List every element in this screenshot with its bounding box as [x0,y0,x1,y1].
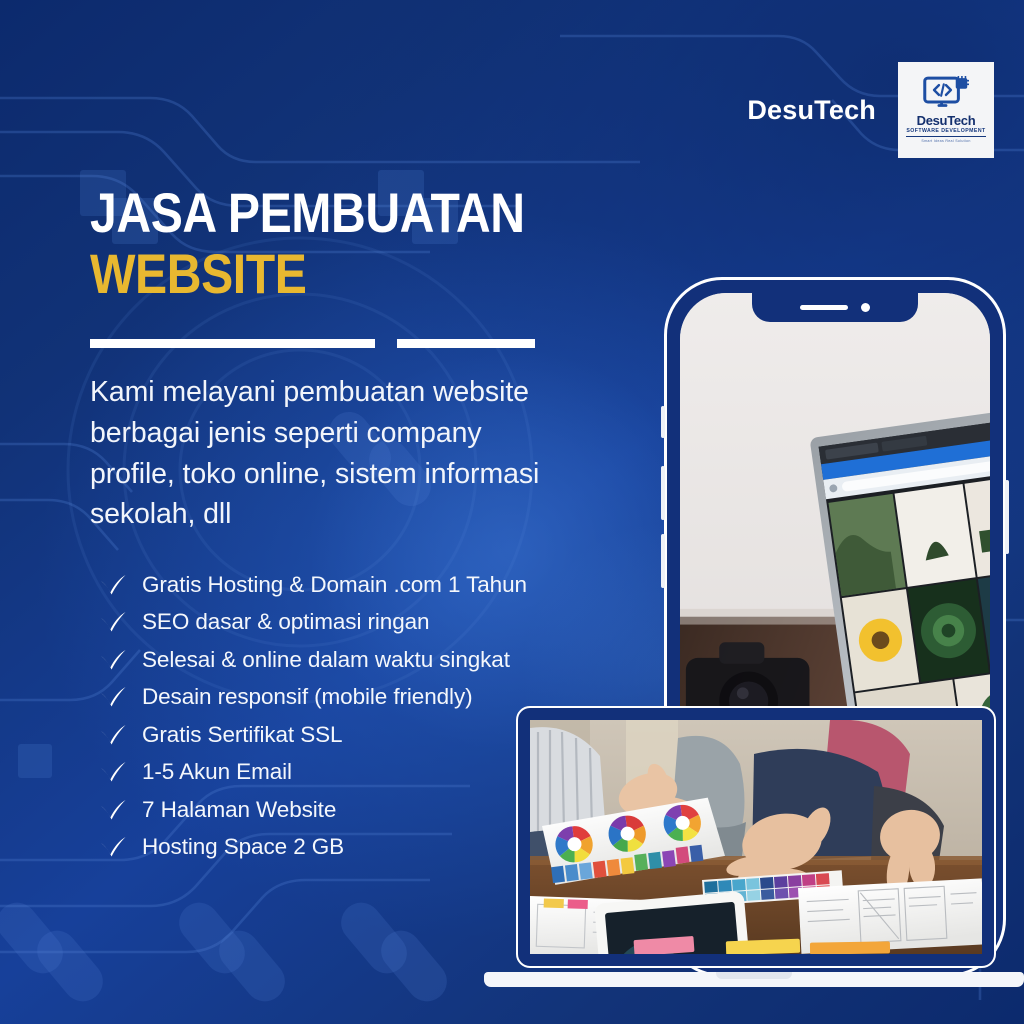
check-icon [98,684,128,710]
headline-line-2: WEBSITE [90,247,572,302]
headline-block: JASA PEMBUATAN WEBSITE [90,186,650,302]
check-icon [98,759,128,785]
check-icon [98,647,128,673]
intro-paragraph: Kami melayani pembuatan website berbagai… [90,372,560,535]
feature-label: Desain responsif (mobile friendly) [142,686,473,709]
earpiece-speaker-icon [800,305,848,310]
feature-label: Gratis Hosting & Domain .com 1 Tahun [142,574,527,597]
front-camera-icon [861,303,870,312]
check-icon [98,609,128,635]
laptop-lid [516,706,996,968]
laptop-mockup [470,706,1024,987]
company-logo: DesuTech SOFTWARE DEVELOPMENT Smart Idea… [898,62,994,158]
divider-segment-short [397,339,535,348]
brand-wordmark: DesuTech [747,95,876,126]
phone-volume-up-button [661,466,665,520]
check-icon [98,572,128,598]
feature-label: 1-5 Akun Email [142,761,292,784]
feature-label: SEO dasar & optimasi ringan [142,611,429,634]
logo-subtitle-text: SOFTWARE DEVELOPMENT [906,129,985,137]
logo-name-text: DesuTech [917,114,976,127]
list-item: Selesai & online dalam waktu singkat [98,641,618,679]
feature-label: Gratis Sertifikat SSL [142,724,342,747]
headline-divider [90,339,535,348]
phone-power-button [1005,480,1009,554]
phone-silent-switch [661,406,665,438]
laptop-screen-photo [530,720,982,954]
list-item: SEO dasar & optimasi ringan [98,604,618,642]
check-icon [98,834,128,860]
phone-volume-down-button [661,534,665,588]
feature-label: 7 Halaman Website [142,799,336,822]
headline-line-1: JASA PEMBUATAN [90,186,572,241]
laptop-base [484,972,1024,987]
check-icon [98,722,128,748]
feature-label: Hosting Space 2 GB [142,836,344,859]
phone-notch [752,293,918,322]
code-monitor-icon [923,76,969,112]
list-item: Gratis Hosting & Domain .com 1 Tahun [98,566,618,604]
laptop-base-notch [716,972,792,979]
poster-canvas: DesuTech DesuTech SOFTWARE DEVEL [0,0,1024,1024]
feature-label: Selesai & online dalam waktu singkat [142,649,510,672]
divider-segment-long [90,339,375,348]
laptop-screen [530,720,982,954]
check-icon [98,797,128,823]
brand-header: DesuTech DesuTech SOFTWARE DEVEL [747,62,994,158]
logo-tagline-text: Smart Ideas Real Solution [921,140,970,144]
